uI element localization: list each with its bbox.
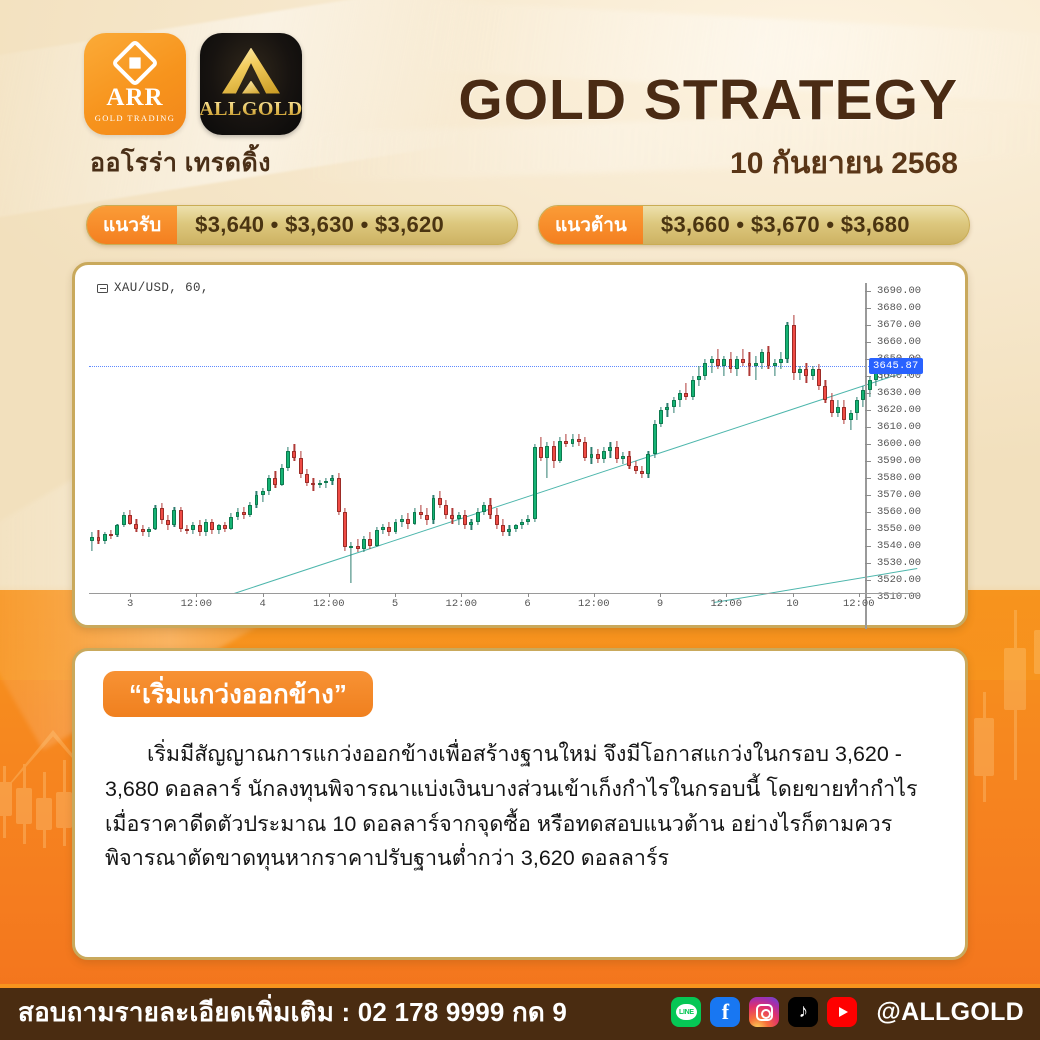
- candlestick: [735, 356, 739, 376]
- price-tick-mark: [865, 410, 871, 411]
- instagram-camera-shape: [756, 1004, 773, 1021]
- candlestick: [103, 532, 107, 544]
- candlestick: [217, 524, 221, 534]
- candle-wick: [458, 512, 459, 526]
- candlestick: [128, 510, 132, 525]
- time-tick-mark: [395, 593, 396, 597]
- time-tick-label: 3: [127, 598, 133, 610]
- time-axis: 312:00412:00512:00612:00912:001012:00: [89, 593, 917, 615]
- candle-body: [571, 439, 575, 444]
- candle-body: [590, 454, 594, 457]
- candlestick: [242, 507, 246, 519]
- candle-body: [804, 369, 808, 376]
- price-axis: 3690.003680.003670.003660.003650.003640.…: [865, 283, 957, 629]
- candle-wick: [667, 403, 668, 417]
- candlestick: [665, 403, 669, 417]
- candlestick: [583, 437, 587, 461]
- candle-body: [722, 359, 726, 366]
- candle-body: [299, 458, 303, 475]
- time-tick-label: 12:00: [843, 598, 875, 610]
- support-levels-pill: แนวรับ $3,640 • $3,630 • $3,620: [86, 205, 518, 245]
- line-bubble-shape: LINE: [676, 1004, 697, 1020]
- candle-body: [748, 363, 752, 366]
- candle-body: [621, 456, 625, 459]
- candle-body: [362, 539, 366, 549]
- price-tick-mark: [865, 546, 871, 547]
- candle-body: [229, 517, 233, 529]
- candlestick: [223, 522, 227, 532]
- footer-contact-text: สอบถามรายละเอียดเพิ่มเติม : 02 178 9999 …: [18, 992, 567, 1033]
- candlestick: [754, 356, 758, 380]
- candlestick: [779, 352, 783, 369]
- candlestick: [811, 366, 815, 380]
- candle-body: [413, 512, 417, 524]
- price-tick-label: 3560.00: [877, 506, 921, 518]
- candle-body: [450, 515, 454, 518]
- price-tick-label: 3530.00: [877, 557, 921, 569]
- candlestick: [760, 349, 764, 369]
- candle-body: [236, 512, 240, 517]
- time-tick-mark: [793, 593, 794, 597]
- candle-body: [785, 325, 789, 359]
- candle-body: [349, 546, 353, 548]
- candle-body: [438, 498, 442, 505]
- candle-body: [337, 478, 341, 512]
- candlestick: [109, 530, 113, 538]
- price-tick-mark: [865, 529, 871, 530]
- candlestick: [703, 359, 707, 379]
- price-tick-label: 3670.00: [877, 319, 921, 331]
- candlestick: [615, 441, 619, 463]
- candlestick: [147, 527, 151, 537]
- candlestick: [432, 495, 436, 524]
- candlestick: [627, 451, 631, 470]
- candlestick: [381, 524, 385, 534]
- candle-body: [324, 481, 328, 483]
- candle-body: [653, 424, 657, 455]
- candlestick: [134, 519, 138, 533]
- candlestick: [286, 447, 290, 471]
- candle-body: [615, 447, 619, 459]
- candle-body: [356, 546, 360, 549]
- arr-logo: ARR GOLD TRADING: [84, 33, 186, 135]
- candle-body: [729, 359, 733, 369]
- candle-body: [488, 505, 492, 515]
- candle-body: [432, 498, 436, 520]
- candle-body: [223, 525, 227, 528]
- time-tick-mark: [130, 593, 131, 597]
- candlestick: [785, 322, 789, 363]
- time-tick-mark: [594, 593, 595, 597]
- candle-wick: [774, 359, 775, 376]
- candle-body: [330, 478, 334, 481]
- price-tick-label: 3570.00: [877, 489, 921, 501]
- candlestick: [236, 508, 240, 520]
- candle-body: [798, 369, 802, 372]
- candle-body: [166, 520, 170, 525]
- candle-body: [103, 534, 107, 541]
- price-tick-label: 3600.00: [877, 438, 921, 450]
- candlestick: [514, 524, 518, 532]
- candle-body: [343, 512, 347, 548]
- candle-body: [375, 530, 379, 545]
- time-tick-mark: [329, 593, 330, 597]
- candle-body: [849, 413, 853, 420]
- candlestick: [299, 451, 303, 478]
- candlestick: [817, 364, 821, 389]
- instagram-icon[interactable]: [749, 997, 779, 1027]
- time-tick-label: 6: [524, 598, 530, 610]
- candle-body: [419, 512, 423, 515]
- candlestick: [691, 376, 695, 400]
- time-tick-label: 10: [786, 598, 799, 610]
- candle-body: [741, 359, 745, 362]
- candle-body: [147, 529, 151, 532]
- candle-body: [646, 454, 650, 474]
- candlestick: [160, 503, 164, 523]
- candlestick: [349, 542, 353, 583]
- candlestick: [577, 434, 581, 446]
- time-tick-mark: [726, 593, 727, 597]
- time-tick-label: 5: [392, 598, 398, 610]
- candle-body: [286, 451, 290, 468]
- candle-body: [507, 529, 511, 532]
- youtube-icon[interactable]: [827, 997, 857, 1027]
- candle-body: [261, 491, 265, 494]
- candlestick: [539, 437, 543, 461]
- candle-body: [823, 386, 827, 400]
- candlestick: [400, 515, 404, 527]
- candlestick: [823, 380, 827, 404]
- candle-body: [830, 400, 834, 414]
- candle-body: [109, 534, 113, 536]
- candlestick: [520, 519, 524, 529]
- candlestick: [362, 536, 366, 553]
- candlestick: [261, 488, 265, 502]
- time-tick-label: 12:00: [711, 598, 743, 610]
- candle-body: [842, 407, 846, 421]
- candle-body: [836, 407, 840, 414]
- candlestick: [767, 346, 771, 370]
- decorative-candle: [16, 788, 32, 824]
- price-tick-label: 3590.00: [877, 455, 921, 467]
- candlestick: [248, 502, 252, 517]
- candlestick-plot: [89, 283, 917, 605]
- time-tick-mark: [859, 593, 860, 597]
- candle-body: [368, 539, 372, 546]
- price-tick-label: 3520.00: [877, 574, 921, 586]
- candle-body: [634, 466, 638, 471]
- candlestick: [425, 508, 429, 525]
- candle-wick: [755, 356, 756, 380]
- footer-accent-line: [0, 984, 1040, 988]
- tiktok-icon[interactable]: ♪: [788, 997, 818, 1027]
- candle-body: [273, 478, 277, 485]
- candle-body: [97, 537, 101, 540]
- time-tick-label: 12:00: [313, 598, 345, 610]
- candlestick: [741, 349, 745, 366]
- candlestick: [394, 519, 398, 534]
- candle-body: [198, 525, 202, 532]
- candlestick: [773, 359, 777, 376]
- play-triangle: [839, 1007, 848, 1017]
- allgold-triangle-icon: [222, 48, 280, 94]
- candle-body: [267, 478, 271, 492]
- price-tick-mark: [865, 308, 871, 309]
- candlestick: [356, 539, 360, 553]
- candle-body: [855, 400, 859, 414]
- candle-body: [552, 446, 556, 461]
- decorative-candle: [1034, 630, 1040, 674]
- candlestick: [716, 349, 720, 369]
- candle-body: [514, 525, 518, 528]
- price-tick-mark: [865, 291, 871, 292]
- candle-body: [716, 359, 720, 366]
- candle-body: [204, 522, 208, 532]
- time-tick-label: 4: [259, 598, 265, 610]
- social-links: LINE f ♪ @ALLGOLD: [671, 997, 1024, 1027]
- candle-body: [779, 359, 783, 362]
- candlestick: [710, 356, 714, 373]
- candle-body: [191, 525, 195, 530]
- footer: สอบถามรายละเอียดเพิ่มเติม : 02 178 9999 …: [0, 984, 1040, 1040]
- candle-body: [817, 369, 821, 386]
- diamond-icon: [111, 38, 159, 86]
- candlestick: [621, 452, 625, 464]
- candlestick: [311, 478, 315, 492]
- candle-body: [533, 447, 537, 518]
- candlestick: [836, 400, 840, 417]
- allgold-logo: ALLGOLD: [200, 33, 302, 135]
- candle-body: [735, 359, 739, 369]
- candle-wick: [92, 532, 93, 551]
- candlestick: [343, 508, 347, 550]
- levels-row: แนวรับ $3,640 • $3,630 • $3,620 แนวต้าน …: [86, 205, 970, 245]
- price-tick-mark: [865, 393, 871, 394]
- candlestick: [653, 420, 657, 457]
- candle-body: [318, 483, 322, 485]
- candlestick: [324, 478, 328, 488]
- decorative-candle: [0, 782, 12, 816]
- candle-body: [381, 527, 385, 530]
- social-handle: @ALLGOLD: [876, 998, 1024, 1027]
- candlestick: [419, 505, 423, 519]
- candle-body: [128, 515, 132, 523]
- current-price-badge: 3645.87: [869, 358, 923, 374]
- candlestick: [792, 315, 796, 379]
- candle-body: [482, 505, 486, 512]
- candlestick: [172, 507, 176, 527]
- resistance-values: $3,660 • $3,670 • $3,680: [643, 212, 930, 238]
- candlestick: [476, 508, 480, 525]
- header: ARR GOLD TRADING ALLGOLD ออโรร่า เทรดดิ้…: [0, 0, 1040, 200]
- candlestick: [507, 525, 511, 535]
- candle-body: [703, 363, 707, 377]
- candlestick: [855, 397, 859, 421]
- candlestick: [368, 532, 372, 549]
- candlestick: [596, 449, 600, 463]
- candle-body: [457, 515, 461, 518]
- arr-logo-name: ARR: [106, 85, 163, 110]
- candle-body: [773, 363, 777, 366]
- candlestick: [122, 512, 126, 527]
- candlestick: [255, 491, 259, 508]
- candle-body: [545, 446, 549, 458]
- candlestick: [444, 500, 448, 519]
- candle-body: [539, 447, 543, 457]
- candlestick: [849, 410, 853, 430]
- time-tick-mark: [196, 593, 197, 597]
- candle-body: [697, 376, 701, 379]
- commentary-headline: “เริ่มแกว่งออกข้าง”: [103, 671, 373, 717]
- candle-body: [672, 400, 676, 407]
- candle-body: [710, 359, 714, 362]
- candle-body: [115, 525, 119, 535]
- time-tick-label: 12:00: [181, 598, 213, 610]
- candle-body: [627, 456, 631, 466]
- candle-body: [495, 515, 499, 525]
- price-tick-mark: [865, 478, 871, 479]
- candlestick: [267, 475, 271, 495]
- resistance-label: แนวต้าน: [539, 206, 643, 244]
- line-icon[interactable]: LINE: [671, 997, 701, 1027]
- candlestick: [115, 524, 119, 538]
- candle-body: [577, 439, 581, 442]
- time-tick-mark: [461, 593, 462, 597]
- price-tick-mark: [865, 427, 871, 428]
- candlestick: [640, 466, 644, 478]
- candlestick: [798, 366, 802, 380]
- candle-body: [501, 525, 505, 532]
- price-tick-label: 3550.00: [877, 523, 921, 535]
- arr-logo-subtitle: GOLD TRADING: [95, 113, 176, 123]
- candle-body: [754, 363, 758, 366]
- candle-body: [292, 451, 296, 458]
- price-tick-mark: [865, 461, 871, 462]
- candlestick: [210, 519, 214, 534]
- candle-body: [141, 529, 145, 532]
- price-tick-mark: [865, 580, 871, 581]
- candlestick: [375, 527, 379, 547]
- candle-body: [583, 442, 587, 457]
- candle-body: [160, 508, 164, 520]
- candle-body: [596, 454, 600, 459]
- candlestick: [457, 512, 461, 526]
- candle-wick: [262, 488, 263, 502]
- candlestick: [495, 508, 499, 528]
- price-tick-label: 3620.00: [877, 404, 921, 416]
- candle-body: [476, 512, 480, 522]
- candlestick: [413, 508, 417, 525]
- candlestick: [166, 515, 170, 530]
- candlestick: [552, 441, 556, 468]
- candle-body: [406, 519, 410, 524]
- candle-body: [305, 474, 309, 482]
- price-tick-mark: [865, 444, 871, 445]
- candle-body: [134, 524, 138, 529]
- candlestick: [488, 498, 492, 518]
- candlestick: [179, 507, 183, 532]
- candle-body: [280, 468, 284, 485]
- time-tick-label: 12:00: [446, 598, 478, 610]
- candle-body: [210, 522, 214, 530]
- candle-body: [248, 505, 252, 515]
- candlestick: [438, 491, 442, 508]
- candle-body: [172, 510, 176, 525]
- candle-wick: [686, 383, 687, 400]
- candlestick: [482, 502, 486, 516]
- time-tick-mark: [263, 593, 264, 597]
- candle-body: [659, 410, 663, 424]
- candle-body: [444, 505, 448, 515]
- candlestick: [280, 464, 284, 486]
- candle-body: [558, 441, 562, 461]
- candlestick: [729, 352, 733, 372]
- candlestick: [185, 525, 189, 533]
- candlestick: [305, 469, 309, 486]
- candlestick: [697, 366, 701, 386]
- price-tick-label: 3690.00: [877, 285, 921, 297]
- candle-body: [387, 527, 391, 532]
- price-tick-label: 3680.00: [877, 302, 921, 314]
- candlestick: [558, 437, 562, 462]
- candle-body: [520, 522, 524, 525]
- candle-body: [90, 537, 94, 540]
- candlestick: [564, 434, 568, 448]
- candlestick: [229, 513, 233, 530]
- candlestick: [330, 475, 334, 485]
- candlestick: [191, 522, 195, 534]
- candlestick: [602, 447, 606, 462]
- candlestick: [659, 407, 663, 427]
- price-tick-mark: [865, 342, 871, 343]
- candle-body: [400, 519, 404, 522]
- facebook-icon[interactable]: f: [710, 997, 740, 1027]
- candle-body: [608, 447, 612, 450]
- candle-wick: [743, 349, 744, 366]
- candle-body: [425, 515, 429, 520]
- candlestick: [526, 515, 530, 525]
- candlestick: [722, 356, 726, 376]
- price-tick-mark: [865, 512, 871, 513]
- logo-group: ARR GOLD TRADING ALLGOLD: [84, 33, 302, 135]
- candle-body: [602, 451, 606, 459]
- candle-body: [394, 522, 398, 532]
- decorative-candle: [974, 718, 994, 776]
- candle-body: [767, 352, 771, 366]
- chart-card: XAU/USD, 60, 3690.003680.003670.003660.0…: [72, 262, 968, 628]
- price-tick-mark: [865, 563, 871, 564]
- candlestick: [608, 442, 612, 457]
- candle-body: [242, 512, 246, 515]
- candle-body: [811, 369, 815, 376]
- candlestick: [450, 508, 454, 523]
- page-title: GOLD STRATEGY: [458, 72, 958, 129]
- candle-body: [185, 529, 189, 531]
- page-date: 10 กันยายน 2568: [458, 140, 958, 187]
- candlestick: [97, 530, 101, 544]
- candlestick: [571, 434, 575, 448]
- candle-body: [640, 471, 644, 474]
- candle-body: [760, 352, 764, 362]
- decorative-candle: [56, 792, 72, 828]
- time-tick-label: 9: [657, 598, 663, 610]
- price-tick-mark: [865, 376, 871, 377]
- candlestick: [634, 461, 638, 475]
- candlestick: [678, 390, 682, 407]
- candlestick: [684, 383, 688, 400]
- candlestick: [804, 363, 808, 383]
